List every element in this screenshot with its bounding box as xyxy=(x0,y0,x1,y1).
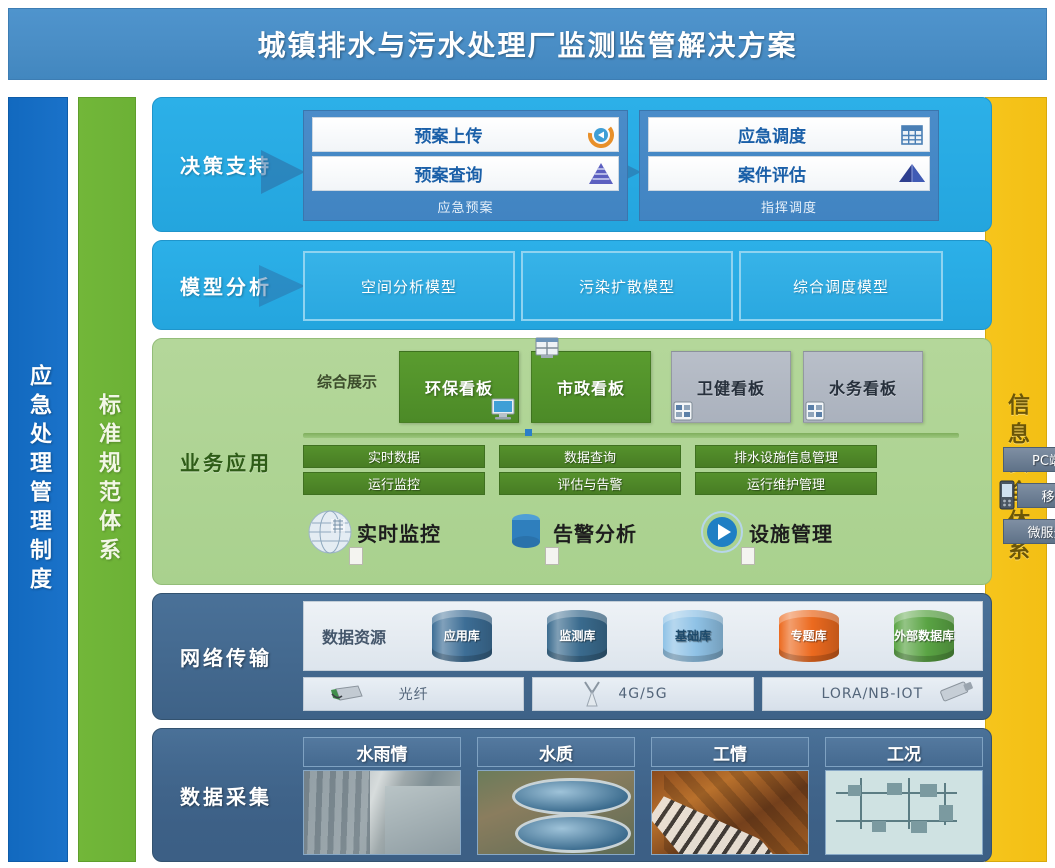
database-basic[interactable]: 基础库 xyxy=(663,610,723,662)
database-monitoring[interactable]: 监测库 xyxy=(547,610,607,662)
chip-maintenance-management[interactable]: 运行维护管理 xyxy=(695,472,877,495)
collection-cards: 水雨情 水质 工情 工况 xyxy=(303,737,983,855)
collection-card-water-quality[interactable]: 水质 xyxy=(477,737,635,855)
dashboard-group-label: 综合展示 xyxy=(303,371,391,392)
chart-node-icon xyxy=(805,401,825,421)
layer-network-transmission: 网络传输 数据资源 应用库 监测库 基础库 专题库 外部数据库 xyxy=(152,593,992,720)
dashboard-health[interactable]: 卫健看板 xyxy=(671,351,791,423)
dashboard-water-affairs-label: 水务看板 xyxy=(829,375,897,399)
business-column-monitoring: 实时数据 运行监控 xyxy=(303,445,485,573)
collection-conditions-label: 工况 xyxy=(825,737,983,767)
terminal-mobile-label: 移动端 xyxy=(1041,486,1055,505)
layer-stack: 决策支持 预案上传 预案查询 xyxy=(152,97,992,862)
case-assessment-label: 案件评估 xyxy=(649,161,895,186)
transmission-media-row: 光纤 4G/5G LORA/NB-IOT xyxy=(303,677,983,711)
dashboard-municipal[interactable]: 市政看板 xyxy=(531,351,651,423)
pyramid-icon xyxy=(584,162,618,186)
feature-realtime-monitoring-label: 实时监控 xyxy=(357,518,441,547)
chip-data-query[interactable]: 数据查询 xyxy=(499,445,681,468)
architecture-diagram: 城镇排水与污水处理厂监测监管解决方案 应急处理管理制度 标准规范体系 信息安全体… xyxy=(0,0,1055,868)
grid-table-icon xyxy=(895,123,929,147)
layer-model-analysis: 模型分析 空间分析模型 污染扩散模型 综合调度模型 xyxy=(152,240,992,330)
business-columns: 实时数据 运行监控 xyxy=(303,445,983,573)
decision-group-emergency-plan: 预案上传 预案查询 xyxy=(303,110,628,221)
decision-item-plan-query[interactable]: 预案查询 xyxy=(312,156,619,191)
model-card-integrated-dispatch[interactable]: 综合调度模型 xyxy=(739,251,943,321)
dashboard-row: 综合展示 环保看板 市政看板 xyxy=(303,347,983,427)
collection-water-quality-label: 水质 xyxy=(477,737,635,767)
decision-item-plan-upload[interactable]: 预案上传 xyxy=(312,117,619,152)
decision-item-case-assessment[interactable]: 案件评估 xyxy=(648,156,930,191)
layer-decision-support: 决策支持 预案上传 预案查询 xyxy=(152,97,992,232)
feature-alarm-analysis-label: 告警分析 xyxy=(553,518,637,547)
terminal-column: PC端 移动端 xyxy=(1003,447,1055,555)
collection-rainfall-label: 水雨情 xyxy=(303,737,461,767)
emergency-dispatch-label: 应急调度 xyxy=(649,122,895,147)
mobile-phone-icon xyxy=(998,480,1016,510)
business-divider xyxy=(303,433,959,438)
plan-upload-label: 预案上传 xyxy=(313,122,584,147)
media-fiber[interactable]: 光纤 xyxy=(303,677,524,711)
sedimentation-tanks-photo xyxy=(477,770,635,855)
document-badge-icon xyxy=(741,547,755,565)
business-inner: 综合展示 环保看板 市政看板 xyxy=(303,347,983,578)
pyramid-dark-icon xyxy=(895,162,929,186)
window-icon xyxy=(534,336,560,360)
database-group: 应用库 监测库 基础库 专题库 外部数据库 xyxy=(404,610,982,662)
page-title-banner: 城镇排水与污水处理厂监测监管解决方案 xyxy=(8,8,1047,80)
river-embankment-photo xyxy=(303,770,461,855)
business-column-alarm: 数据查询 评估与告警 告警分析 xyxy=(499,445,681,573)
document-badge-icon xyxy=(545,547,559,565)
network-layer-label: 网络传输 xyxy=(153,594,299,719)
media-lora-label: LORA/NB-IOT xyxy=(822,686,924,702)
model-arrow xyxy=(259,265,305,307)
business-column-facility: 排水设施信息管理 运行维护管理 设施管理 xyxy=(695,445,877,573)
page-title: 城镇排水与污水处理厂监测监管解决方案 xyxy=(257,24,797,64)
media-fiber-label: 光纤 xyxy=(399,684,429,704)
terminal-mobile[interactable]: 移动端 xyxy=(1017,483,1055,508)
chip-realtime-data[interactable]: 实时数据 xyxy=(303,445,485,468)
document-badge-icon xyxy=(349,547,363,565)
layer-data-collection: 数据采集 水雨情 水质 工情 工况 xyxy=(152,728,992,862)
feature-realtime-monitoring[interactable]: 实时监控 xyxy=(303,501,485,563)
decision-caption-command-dispatch: 指挥调度 xyxy=(648,195,930,216)
sensor-module-icon xyxy=(938,680,974,704)
terminal-microservice-label: 微服务 xyxy=(1027,522,1055,541)
chip-operation-monitoring[interactable]: 运行监控 xyxy=(303,472,485,495)
collection-card-conditions[interactable]: 工况 xyxy=(825,737,983,855)
media-lora[interactable]: LORA/NB-IOT xyxy=(762,677,983,711)
media-cellular[interactable]: 4G/5G xyxy=(532,677,753,711)
feature-alarm-analysis[interactable]: 告警分析 xyxy=(499,501,681,563)
chip-assessment-alarm[interactable]: 评估与告警 xyxy=(499,472,681,495)
plan-query-label: 预案查询 xyxy=(313,161,584,186)
media-cellular-label: 4G/5G xyxy=(618,686,667,702)
decision-arrow-1 xyxy=(261,150,305,194)
pipeline-trench-photo xyxy=(651,770,809,855)
database-external[interactable]: 外部数据库 xyxy=(894,610,954,662)
model-card-spatial[interactable]: 空间分析模型 xyxy=(303,251,515,321)
feature-facility-management-label: 设施管理 xyxy=(749,518,833,547)
chip-drainage-facility-info[interactable]: 排水设施信息管理 xyxy=(695,445,877,468)
dashboard-environment[interactable]: 环保看板 xyxy=(399,351,519,423)
dashboard-health-label: 卫健看板 xyxy=(697,375,765,399)
model-card-pollution-diffusion[interactable]: 污染扩散模型 xyxy=(521,251,733,321)
collection-layer-label: 数据采集 xyxy=(153,729,299,861)
pillar-standards-system: 标准规范体系 xyxy=(78,97,136,862)
dashboard-municipal-label: 市政看板 xyxy=(557,375,625,399)
terminal-pc[interactable]: PC端 xyxy=(1003,447,1055,472)
collection-works-label: 工情 xyxy=(651,737,809,767)
fiber-module-icon xyxy=(330,684,364,704)
database-application[interactable]: 应用库 xyxy=(432,610,492,662)
data-resource-panel: 数据资源 应用库 监测库 基础库 专题库 外部数据库 xyxy=(303,601,983,671)
antenna-tower-icon xyxy=(581,681,603,707)
collection-card-rainfall[interactable]: 水雨情 xyxy=(303,737,461,855)
dashboard-water-affairs[interactable]: 水务看板 xyxy=(803,351,923,423)
refresh-cycle-icon xyxy=(584,122,618,148)
business-layer-label: 业务应用 xyxy=(153,339,299,584)
pillar-left-label: 应急处理管理制度 xyxy=(22,364,54,596)
decision-item-emergency-dispatch[interactable]: 应急调度 xyxy=(648,117,930,152)
chart-node-icon xyxy=(673,401,693,421)
decision-group-command-dispatch: 应急调度 案件评估 xyxy=(639,110,939,221)
pillar-emergency-management: 应急处理管理制度 xyxy=(8,97,68,862)
feature-facility-management[interactable]: 设施管理 xyxy=(695,501,877,563)
terminal-pc-label: PC端 xyxy=(1032,450,1055,469)
pillar-middle-label: 标准规范体系 xyxy=(91,393,123,567)
layer-business-application: 业务应用 综合展示 环保看板 xyxy=(152,338,992,585)
data-resource-label: 数据资源 xyxy=(304,624,404,648)
dashboard-environment-label: 环保看板 xyxy=(425,375,493,399)
database-thematic[interactable]: 专题库 xyxy=(779,610,839,662)
decision-caption-emergency-plan: 应急预案 xyxy=(312,195,619,216)
scada-schematic-photo xyxy=(825,770,983,855)
collection-card-works[interactable]: 工情 xyxy=(651,737,809,855)
monitor-icon xyxy=(490,398,516,420)
terminal-microservice[interactable]: 微服务 xyxy=(1003,519,1055,544)
